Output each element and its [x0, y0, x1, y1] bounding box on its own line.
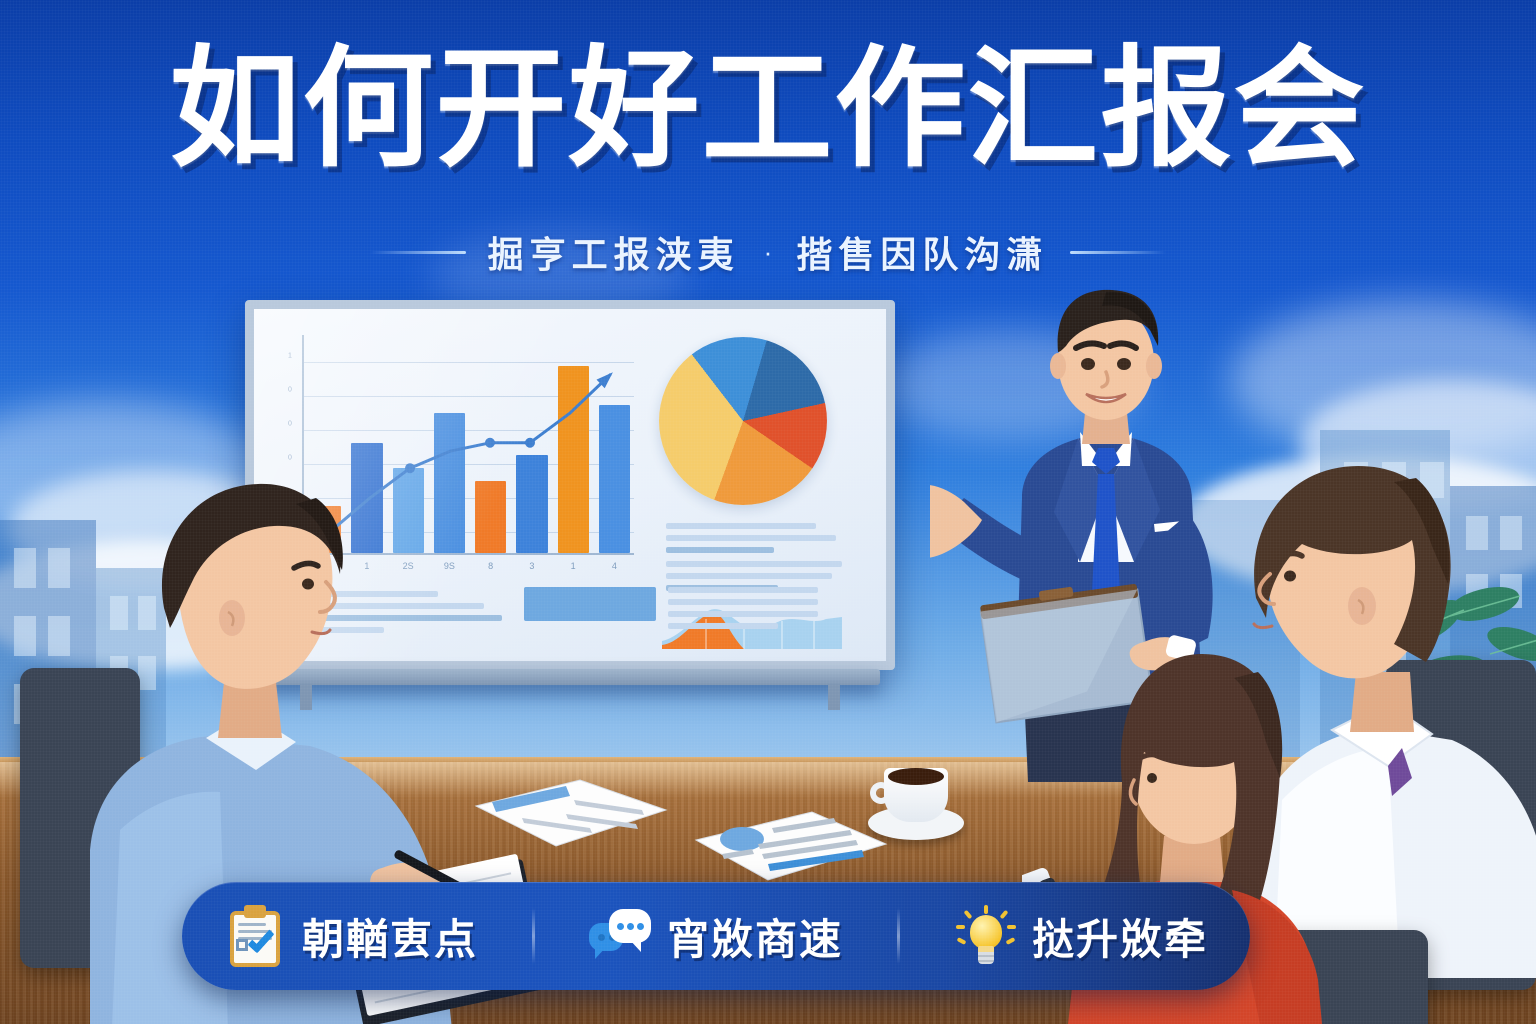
speech-bubbles-icon — [589, 905, 651, 967]
bottom-feature-bar: 朝輶叀点 宵敚商速 — [182, 882, 1250, 990]
subtitle-rule-left — [370, 251, 466, 254]
line-marker — [485, 438, 495, 448]
subtitle-right: 揩售因队沟潇 — [796, 226, 1048, 278]
subtitle-left: 掘亨工报浃夷 — [488, 226, 740, 278]
clipboard-check-icon — [224, 905, 286, 967]
x-tick-label: 1 — [558, 561, 589, 571]
title-block: 如何开好工作汇报会 — [0, 40, 1536, 178]
page-title: 如何开好工作汇报会 — [0, 40, 1536, 178]
feature-separator — [532, 908, 535, 964]
subtitle-block: 掘亨工报浃夷 · 揩售因队沟潇 — [0, 226, 1536, 278]
feature-item-3[interactable]: 挞升敚牵 — [954, 905, 1208, 967]
document-on-table — [672, 792, 892, 882]
poster-canvas: 1 0 0 0 0 0 112S9S8314 — [0, 0, 1536, 1024]
chart-block — [524, 587, 656, 621]
lightbulb-icon — [954, 905, 1016, 967]
feature-separator — [897, 908, 900, 964]
pie-chart — [659, 337, 827, 505]
line-marker — [525, 438, 535, 448]
x-tick-label: 4 — [599, 561, 630, 571]
subtitle-separator-dot: · — [764, 237, 773, 268]
subtitle-rule-right — [1070, 251, 1166, 254]
feature-label-1: 朝輶叀点 — [302, 906, 478, 967]
feature-item-2[interactable]: 宵敚商速 — [589, 905, 843, 967]
feature-label-2: 宵敚商速 — [667, 906, 843, 967]
feature-item-1[interactable]: 朝輶叀点 — [224, 905, 478, 967]
screen-leg — [828, 684, 840, 710]
feature-label-3: 挞升敚牵 — [1032, 906, 1208, 967]
